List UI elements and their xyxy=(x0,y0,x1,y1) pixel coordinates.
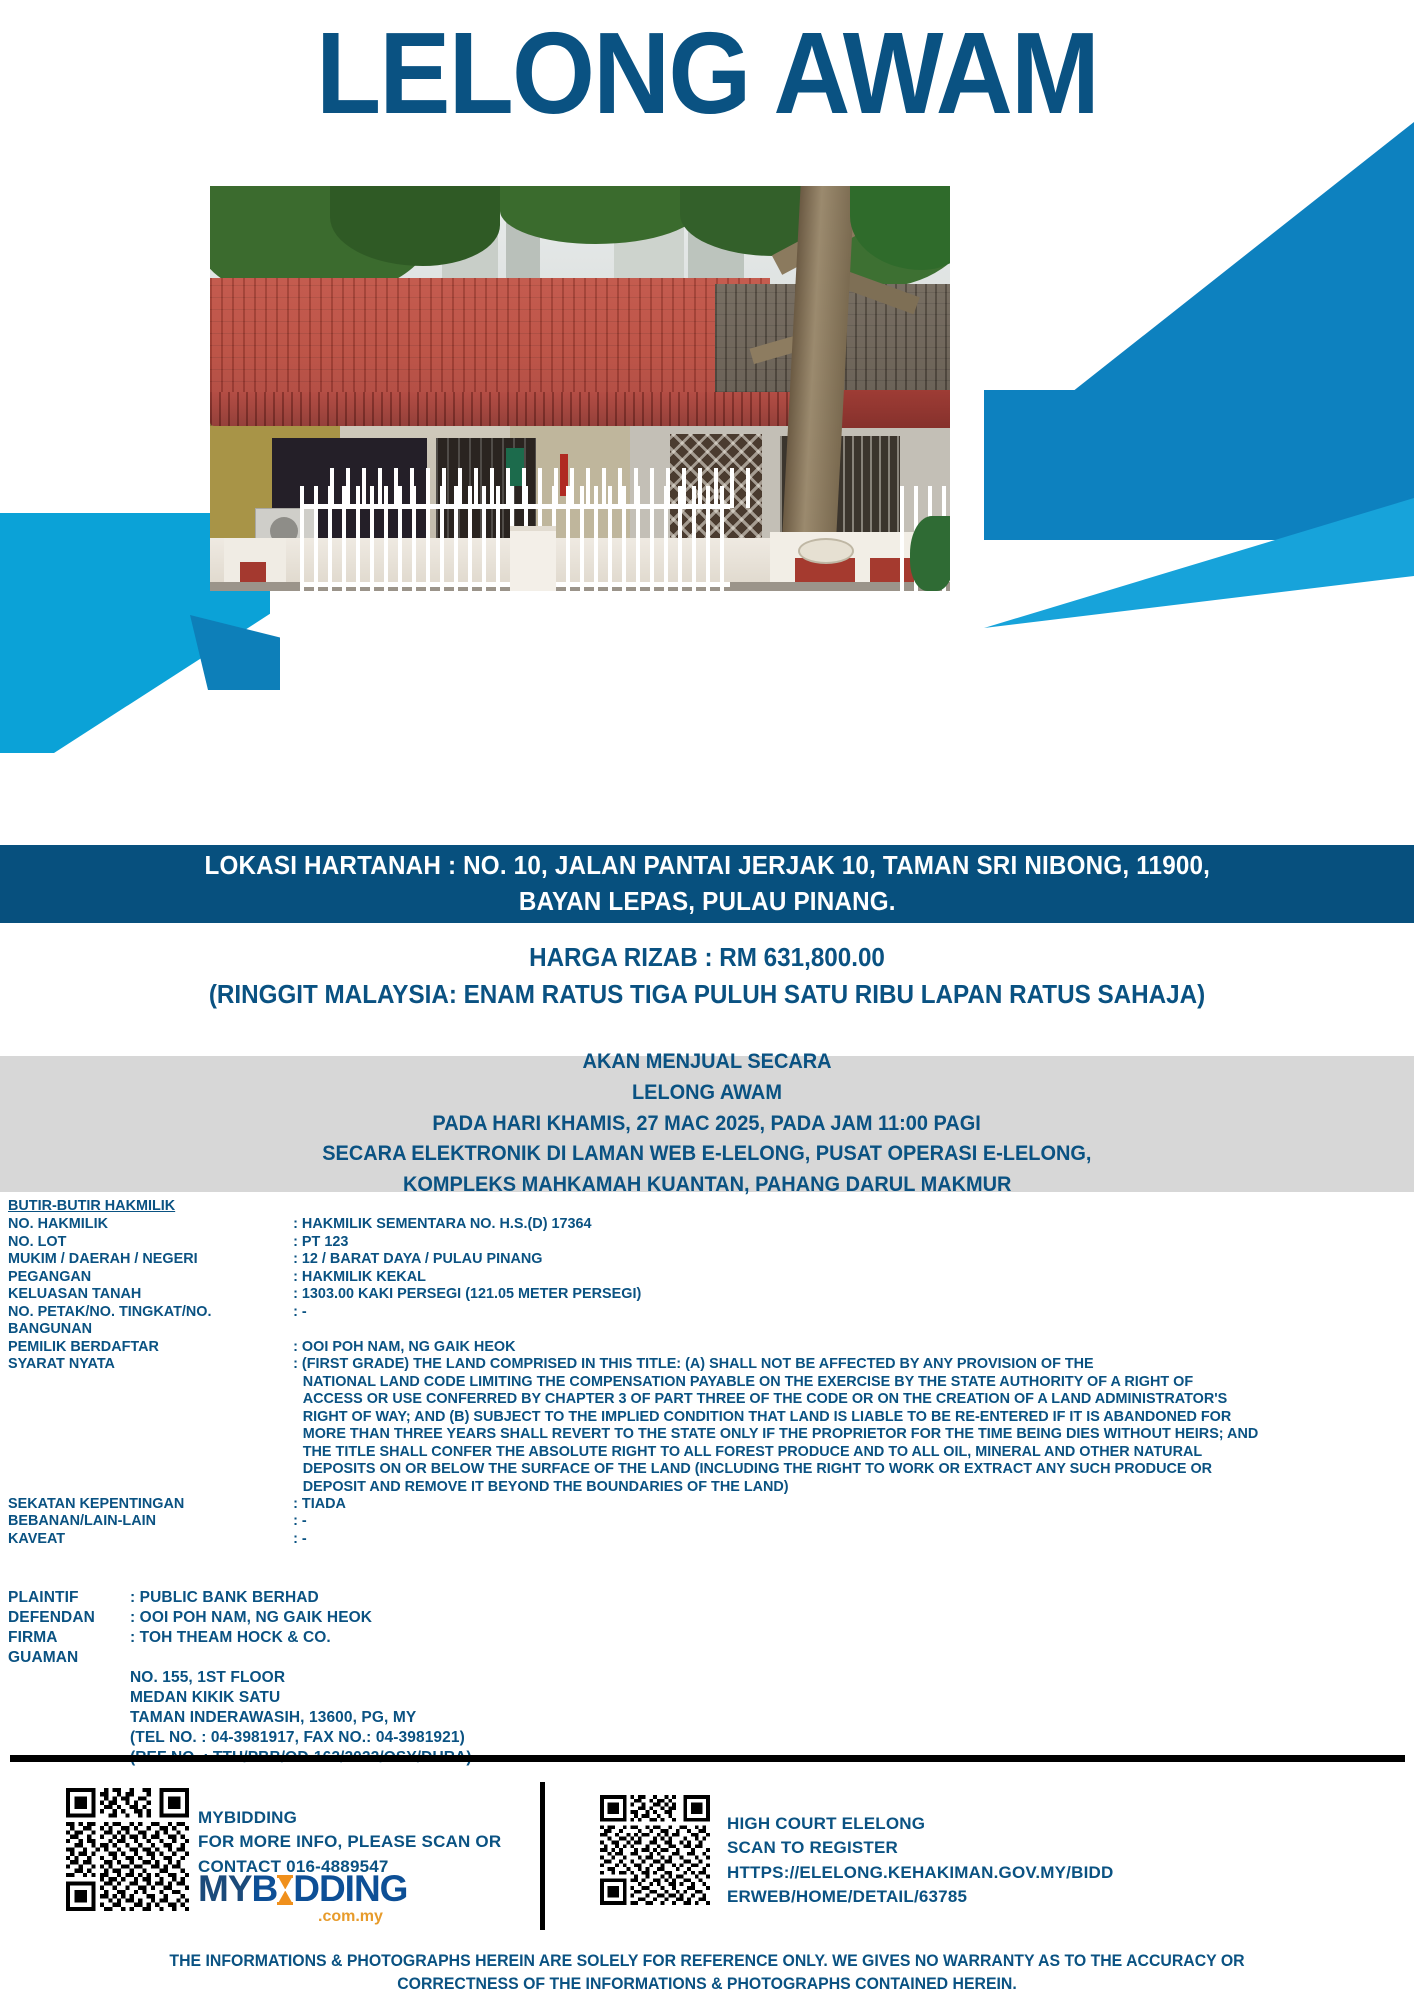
auction-poster: LELONG AWAM xyxy=(0,0,1414,2000)
photo-house-number-plate xyxy=(798,538,854,564)
footer-divider xyxy=(10,1755,1405,1762)
decor-wedge-left-dark xyxy=(190,615,280,690)
photo-plant xyxy=(910,516,950,591)
decor-triangle-right-light xyxy=(984,498,1414,628)
detail-key: NO. HAKMILIK xyxy=(8,1215,293,1232)
detail-row: BEBANAN/LAIN-LAIN : - xyxy=(8,1512,1352,1529)
syarat-line: : (FIRST GRADE) THE LAND COMPRISED IN TH… xyxy=(293,1355,1094,1372)
syarat-line: DEPOSIT AND REMOVE IT BEYOND THE BOUNDAR… xyxy=(303,1478,1352,1495)
location-text: LOKASI HARTANAH : NO. 10, JALAN PANTAI J… xyxy=(204,848,1210,920)
syarat-line: NATIONAL LAND CODE LIMITING THE COMPENSA… xyxy=(303,1373,1352,1390)
detail-row: NO. HAKMILIK : HAKMILIK SEMENTARA NO. H.… xyxy=(8,1215,1352,1232)
defendant-row: DEFENDAN : OOI POH NAM, NG GAIK HEOK xyxy=(8,1608,908,1628)
elelong-url-line-2[interactable]: ERWEB/HOME/DETAIL/63785 xyxy=(727,1885,1113,1909)
detail-key: KELUASAN TANAH xyxy=(8,1285,293,1302)
detail-key: MUKIM / DAERAH / NEGERI xyxy=(8,1250,293,1267)
location-line-1: LOKASI HARTANAH : NO. 10, JALAN PANTAI J… xyxy=(204,848,1210,884)
reserve-price-words: (RINGGIT MALAYSIA: ENAM RATUS TIGA PULUH… xyxy=(35,977,1378,1014)
law-firm-phone: (TEL NO. : 04-3981917, FAX NO.: 04-39819… xyxy=(130,1728,908,1748)
defendant-value: : OOI POH NAM, NG GAIK HEOK xyxy=(130,1608,908,1628)
law-firm-label: FIRMA GUAMAN xyxy=(8,1628,130,1668)
page-title: LELONG AWAM xyxy=(57,14,1358,132)
photo-gate-rail xyxy=(300,504,730,509)
auction-details-block: AKAN MENJUAL SECARA LELONG AWAM PADA HAR… xyxy=(0,1056,1414,1192)
high-court-label: HIGH COURT ELELONG xyxy=(727,1812,1113,1836)
detail-value: : OOI POH NAM, NG GAIK HEOK xyxy=(293,1338,1352,1355)
auction-line-2: LELONG AWAM xyxy=(632,1078,782,1109)
law-firm-address-line: TAMAN INDERAWASIH, 13600, PG, MY xyxy=(130,1708,908,1728)
syarat-line: THE TITLE SHALL CONFER THE ABSOLUTE RIGH… xyxy=(303,1443,1352,1460)
detail-key: KAVEAT xyxy=(8,1530,293,1547)
detail-key: NO. PETAK/NO. TINGKAT/NO. BANGUNAN xyxy=(8,1303,293,1338)
law-firm-value: : TOH THEAM HOCK & CO. xyxy=(130,1628,908,1668)
high-court-footer-text: HIGH COURT ELELONG SCAN TO REGISTER HTTP… xyxy=(727,1812,1113,1910)
plaintiff-label: PLAINTIF xyxy=(8,1588,130,1608)
detail-value: : TIADA xyxy=(293,1495,1352,1512)
syarat-line: RIGHT OF WAY; AND (B) SUBJECT TO THE IMP… xyxy=(303,1408,1352,1425)
law-firm-address-line: MEDAN KIKIK SATU xyxy=(130,1688,908,1708)
detail-value: : 12 / BARAT DAYA / PULAU PINANG xyxy=(293,1250,1352,1267)
law-firm-address-line: NO. 155, 1ST FLOOR xyxy=(130,1668,908,1688)
detail-key: BEBANAN/LAIN-LAIN xyxy=(8,1512,293,1529)
photo-awning xyxy=(210,392,830,426)
detail-row: KAVEAT : - xyxy=(8,1530,1352,1547)
mybidding-info: FOR MORE INFO, PLEASE SCAN OR xyxy=(198,1830,501,1854)
defendant-label: DEFENDAN xyxy=(8,1608,130,1628)
detail-row: MUKIM / DAERAH / NEGERI : 12 / BARAT DAY… xyxy=(8,1250,1352,1267)
location-line-2: BAYAN LEPAS, PULAU PINANG. xyxy=(204,884,1210,920)
detail-value: : - xyxy=(293,1303,1352,1320)
disclaimer-line-1: THE INFORMATIONS & PHOTOGRAPHS HEREIN AR… xyxy=(28,1950,1385,1973)
detail-row: KELUASAN TANAH : 1303.00 KAKI PERSEGI (1… xyxy=(8,1285,1352,1302)
location-banner: LOKASI HARTANAH : NO. 10, JALAN PANTAI J… xyxy=(0,845,1414,923)
disclaimer: THE INFORMATIONS & PHOTOGRAPHS HEREIN AR… xyxy=(28,1950,1385,1997)
hourglass-icon xyxy=(278,1875,292,1905)
detail-row: NO. PETAK/NO. TINGKAT/NO. BANGUNAN : - xyxy=(8,1303,1352,1338)
auction-date-time: PADA HARI KHAMIS, 27 MAC 2025, PADA JAM … xyxy=(433,1109,981,1140)
title-details-section: BUTIR-BUTIR HAKMILIK NO. HAKMILIK : HAKM… xyxy=(8,1197,1352,1547)
detail-value: : - xyxy=(293,1530,1352,1547)
footer-vertical-divider xyxy=(540,1782,545,1930)
law-firm-row: FIRMA GUAMAN : TOH THEAM HOCK & CO. xyxy=(8,1628,908,1668)
title-details-heading: BUTIR-BUTIR HAKMILIK xyxy=(8,1197,1352,1214)
detail-row: PEMILIK BERDAFTAR : OOI POH NAM, NG GAIK… xyxy=(8,1338,1352,1355)
detail-value: : PT 123 xyxy=(293,1233,1352,1250)
detail-key: SYARAT NYATA xyxy=(8,1355,293,1372)
detail-key: PEGANGAN xyxy=(8,1268,293,1285)
detail-value: : HAKMILIK KEKAL xyxy=(293,1268,1352,1285)
reserve-price-amount: HARGA RIZAB : RM 631,800.00 xyxy=(35,940,1378,977)
plaintiff-value: : PUBLIC BANK BERHAD xyxy=(130,1588,908,1608)
detail-key: PEMILIK BERDAFTAR xyxy=(8,1338,293,1355)
reserve-price: HARGA RIZAB : RM 631,800.00 (RINGGIT MAL… xyxy=(35,940,1378,1014)
parties-section: PLAINTIF : PUBLIC BANK BERHAD DEFENDAN :… xyxy=(8,1588,908,1768)
scan-to-register-label: SCAN TO REGISTER xyxy=(727,1836,1113,1860)
detail-row: NO. LOT : PT 123 xyxy=(8,1233,1352,1250)
mybidding-label: MYBIDDING xyxy=(198,1806,501,1830)
mybidding-qr-code-icon[interactable] xyxy=(66,1788,189,1911)
auction-venue-1: SECARA ELEKTRONIK DI LAMAN WEB E-LELONG,… xyxy=(322,1139,1091,1170)
decor-band-right-mid xyxy=(984,390,1414,540)
mybidding-logo: MYBDDING xyxy=(198,1870,407,1907)
decor-triangle-right-top xyxy=(1034,122,1414,422)
detail-row: PEGANGAN : HAKMILIK KEKAL xyxy=(8,1268,1352,1285)
detail-value-paragraph: : (FIRST GRADE) THE LAND COMPRISED IN TH… xyxy=(293,1355,1352,1495)
mybidding-logo-b: B xyxy=(252,1868,278,1909)
photo-fence-pillar xyxy=(510,526,556,591)
detail-row-syarat-nyata: SYARAT NYATA : (FIRST GRADE) THE LAND CO… xyxy=(8,1355,1352,1495)
syarat-line: MORE THAN THREE YEARS SHALL REVERT TO TH… xyxy=(303,1425,1352,1442)
detail-key: NO. LOT xyxy=(8,1233,293,1250)
mybidding-logo-rest: DDING xyxy=(293,1868,407,1909)
detail-row: SEKATAN KEPENTINGAN : TIADA xyxy=(8,1495,1352,1512)
detail-value: : 1303.00 KAKI PERSEGI (121.05 METER PER… xyxy=(293,1285,1352,1302)
syarat-line: DEPOSITS ON OR BELOW THE SURFACE OF THE … xyxy=(303,1460,1352,1477)
disclaimer-line-2: CORRECTNESS OF THE INFORMATIONS & PHOTOG… xyxy=(28,1973,1385,1996)
elelong-url-line-1[interactable]: HTTPS://ELELONG.KEHAKIMAN.GOV.MY/BIDD xyxy=(727,1861,1113,1885)
mybidding-logo-domain: .com.my xyxy=(318,1908,383,1926)
plaintiff-row: PLAINTIF : PUBLIC BANK BERHAD xyxy=(8,1588,908,1608)
property-photo xyxy=(210,186,950,591)
auction-line-1: AKAN MENJUAL SECARA xyxy=(582,1047,831,1078)
detail-value: : - xyxy=(293,1512,1352,1529)
detail-value: : HAKMILIK SEMENTARA NO. H.S.(D) 17364 xyxy=(293,1215,1352,1232)
high-court-qr-code-icon[interactable] xyxy=(600,1795,710,1905)
mybidding-logo-my: MY xyxy=(198,1868,252,1909)
detail-key: SEKATAN KEPENTINGAN xyxy=(8,1495,293,1512)
syarat-line: ACCESS OR USE CONFERRED BY CHAPTER 3 OF … xyxy=(303,1390,1352,1407)
